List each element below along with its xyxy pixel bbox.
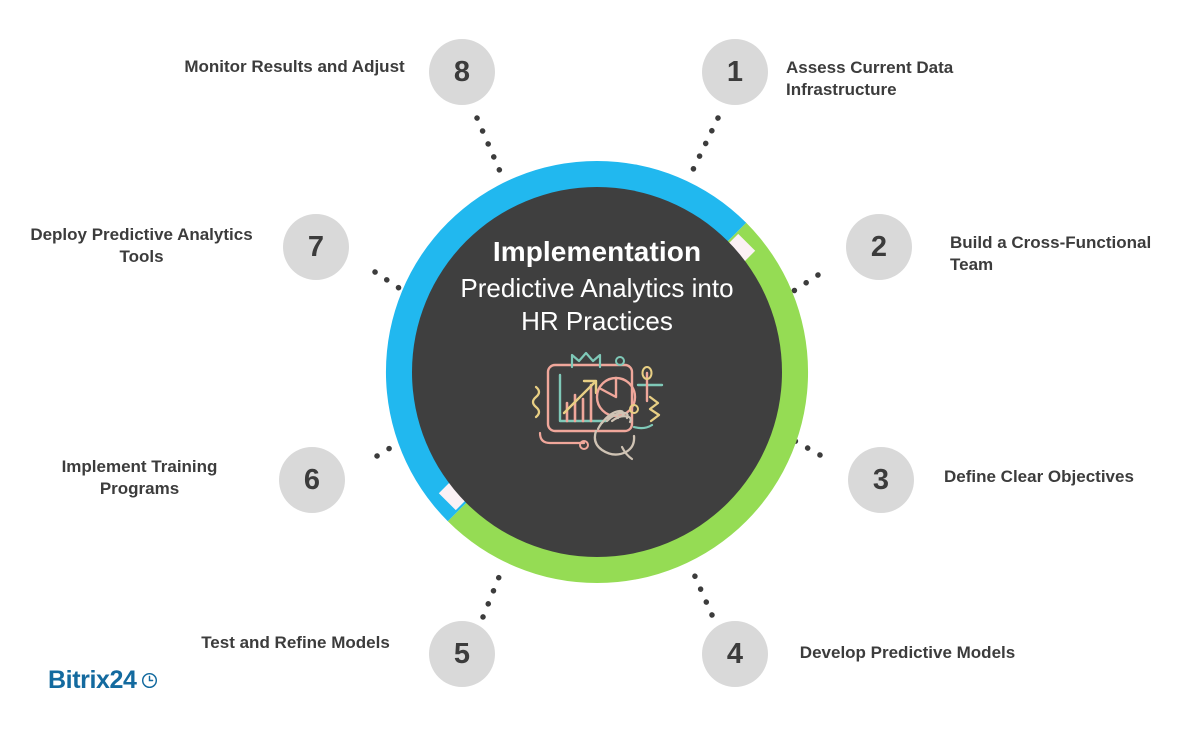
step-label-1: Assess Current Data Infrastructure — [786, 57, 1021, 101]
step-number-2: 2 — [871, 231, 887, 264]
step-label-8: Monitor Results and Adjust — [177, 56, 412, 78]
bitrix24-logo: Bitrix24 — [48, 666, 158, 695]
step-node-7[interactable]: 7 — [283, 214, 349, 280]
hub-title: Implementation — [493, 235, 701, 268]
step-number-4: 4 — [727, 638, 743, 671]
step-number-7: 7 — [308, 231, 324, 264]
step-node-5[interactable]: 5 — [429, 621, 495, 687]
analytics-dashboard-icon — [522, 351, 672, 466]
step-label-4: Develop Predictive Models — [790, 642, 1025, 664]
step-node-2[interactable]: 2 — [846, 214, 912, 280]
hub-circle: Implementation Predictive Analytics into… — [412, 187, 782, 557]
step-node-6[interactable]: 6 — [279, 447, 345, 513]
step-number-3: 3 — [873, 464, 889, 497]
step-label-2: Build a Cross-Functional Team — [950, 232, 1185, 276]
infographic-canvas: Implementation Predictive Analytics into… — [0, 0, 1197, 731]
step-number-1: 1 — [727, 56, 743, 89]
step-number-5: 5 — [454, 638, 470, 671]
hub-subtitle: Predictive Analytics into HR Practices — [447, 272, 747, 337]
step-number-6: 6 — [304, 464, 320, 497]
step-node-1[interactable]: 1 — [702, 39, 768, 105]
step-node-4[interactable]: 4 — [702, 621, 768, 687]
logo-text: Bitrix24 — [48, 666, 137, 695]
step-label-6: Implement Training Programs — [22, 456, 257, 500]
step-node-3[interactable]: 3 — [848, 447, 914, 513]
step-label-5: Test and Refine Models — [178, 632, 413, 654]
clock-icon — [141, 672, 158, 689]
step-node-8[interactable]: 8 — [429, 39, 495, 105]
step-label-3: Define Clear Objectives — [944, 466, 1179, 488]
step-number-8: 8 — [454, 56, 470, 89]
step-label-7: Deploy Predictive Analytics Tools — [24, 224, 259, 268]
